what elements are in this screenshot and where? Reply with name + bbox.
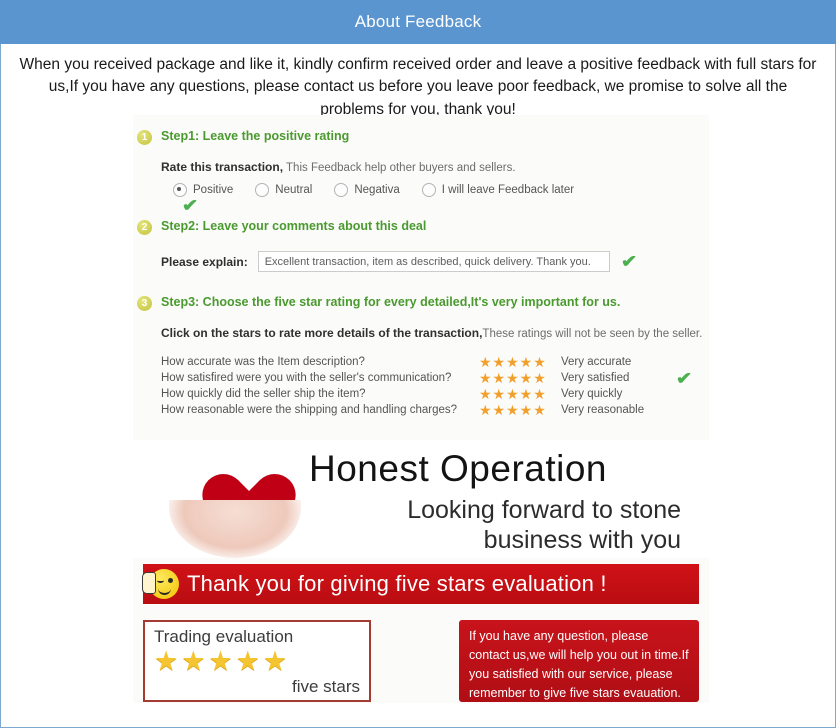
rating-stars[interactable]: ★★★★★ bbox=[479, 355, 561, 369]
step3-header: 3 Step3: Choose the five star rating for… bbox=[137, 289, 709, 311]
honest-subtitle-line1: Looking forward to stone bbox=[309, 496, 681, 526]
rating-stars[interactable]: ★★★★★ bbox=[479, 371, 561, 385]
page-title: About Feedback bbox=[355, 12, 482, 32]
step1-badge: 1 bbox=[137, 130, 152, 145]
radio-option-later[interactable]: I will leave Feedback later bbox=[422, 183, 574, 197]
rating-stars[interactable]: ★★★★★ bbox=[479, 403, 561, 417]
rating-answer: Very quickly bbox=[561, 388, 622, 400]
radio-neutral-label: Neutral bbox=[275, 184, 312, 196]
radio-option-negative[interactable]: Negativa bbox=[334, 183, 399, 197]
radio-negative-icon[interactable] bbox=[334, 183, 348, 197]
winking-smiley-thumbs-up-icon bbox=[149, 569, 179, 599]
trading-evaluation-subtitle: five stars bbox=[292, 677, 360, 697]
step3-badge: 3 bbox=[137, 296, 152, 311]
feedback-page: About Feedback When you received package… bbox=[0, 0, 836, 728]
step2-badge: 2 bbox=[137, 220, 152, 235]
explain-row: Please explain: ✔ bbox=[161, 251, 709, 272]
rating-radio-group: Positive Neutral Negativa I will le bbox=[161, 183, 709, 197]
step3-body: Click on the stars to rate more details … bbox=[133, 326, 709, 418]
rate-transaction-line: Rate this transaction, This Feedback hel… bbox=[161, 160, 709, 174]
rate-transaction-hint: This Feedback help other buyers and sell… bbox=[286, 162, 515, 174]
bottom-boxes-row: Trading evaluation ★★★★★ five stars If y… bbox=[143, 620, 699, 702]
smiley-wink-eye bbox=[157, 578, 164, 583]
radio-negative-label: Negativa bbox=[354, 184, 399, 196]
click-stars-label: Click on the stars to rate more details … bbox=[161, 326, 482, 340]
rating-question: How accurate was the Item description? bbox=[161, 356, 479, 368]
honest-operation-banner: Honest Operation Looking forward to ston… bbox=[133, 440, 709, 558]
thanks-banner-text: Thank you for giving five stars evaluati… bbox=[187, 571, 607, 597]
step1-body: Rate this transaction, This Feedback hel… bbox=[133, 160, 709, 197]
step2-body: Please explain: ✔ bbox=[133, 251, 709, 272]
contact-notice-box: If you have any question, please contact… bbox=[459, 620, 699, 702]
honest-subtitle-line2: business with you bbox=[309, 526, 681, 556]
smiley-mouth bbox=[158, 586, 171, 595]
rating-stars[interactable]: ★★★★★ bbox=[479, 387, 561, 401]
content-frame: When you received package and like it, k… bbox=[0, 44, 836, 728]
radio-later-icon[interactable] bbox=[422, 183, 436, 197]
radio-later-label: I will leave Feedback later bbox=[442, 184, 574, 196]
check-icon-comment: ✔ bbox=[621, 253, 637, 270]
trading-evaluation-box: Trading evaluation ★★★★★ five stars bbox=[143, 620, 371, 702]
comment-input[interactable] bbox=[258, 251, 610, 272]
radio-option-neutral[interactable]: Neutral bbox=[255, 183, 312, 197]
steps-panel: 1 Step1: Leave the positive rating Rate … bbox=[133, 115, 709, 703]
step3-title: Step3: Choose the five star rating for e… bbox=[161, 295, 620, 309]
click-stars-line: Click on the stars to rate more details … bbox=[161, 326, 709, 340]
rating-row: How reasonable were the shipping and han… bbox=[161, 402, 709, 418]
radio-neutral-icon[interactable] bbox=[255, 183, 269, 197]
radio-option-positive[interactable]: Positive bbox=[173, 183, 233, 197]
title-bar: About Feedback bbox=[0, 0, 836, 44]
check-icon-ratings: ✔ bbox=[676, 370, 692, 387]
rating-answer: Very reasonable bbox=[561, 404, 644, 416]
rating-question: How satisfired were you with the seller'… bbox=[161, 372, 479, 384]
check-icon-positive: ✔ bbox=[182, 197, 198, 214]
step1-header: 1 Step1: Leave the positive rating bbox=[137, 123, 709, 145]
step2-header: 2 Step2: Leave your comments about this … bbox=[137, 213, 709, 235]
steps-list: 1 Step1: Leave the positive rating Rate … bbox=[133, 115, 709, 702]
radio-positive-label: Positive bbox=[193, 184, 233, 196]
hand-icon bbox=[169, 500, 301, 558]
rating-question: How quickly did the seller ship the item… bbox=[161, 388, 479, 400]
rating-question: How reasonable were the shipping and han… bbox=[161, 404, 479, 416]
thanks-banner: Thank you for giving five stars evaluati… bbox=[143, 564, 699, 604]
detailed-ratings: How accurate was the Item description? ★… bbox=[161, 354, 709, 418]
step2-title: Step2: Leave your comments about this de… bbox=[161, 219, 426, 233]
trading-evaluation-title: Trading evaluation bbox=[154, 627, 360, 647]
step1-title: Step1: Leave the positive rating bbox=[161, 129, 349, 143]
rating-row: How accurate was the Item description? ★… bbox=[161, 354, 709, 370]
radio-positive-icon[interactable] bbox=[173, 183, 187, 197]
rating-row: How satisfired were you with the seller'… bbox=[161, 370, 709, 386]
trading-evaluation-stars: ★★★★★ bbox=[154, 648, 360, 675]
hand-holding-heart-icon bbox=[161, 442, 311, 558]
honest-title: Honest Operation bbox=[309, 448, 607, 490]
rating-row: How quickly did the seller ship the item… bbox=[161, 386, 709, 402]
click-stars-hint: These ratings will not be seen by the se… bbox=[482, 328, 702, 340]
smiley-eye bbox=[168, 578, 173, 583]
thumbs-up-icon bbox=[142, 572, 156, 594]
honest-subtitle: Looking forward to stone business with y… bbox=[309, 496, 681, 555]
explain-label: Please explain: bbox=[161, 255, 248, 269]
rating-answer: Very satisfied bbox=[561, 372, 629, 384]
intro-paragraph: When you received package and like it, k… bbox=[1, 44, 835, 123]
rate-transaction-label: Rate this transaction, bbox=[161, 160, 283, 174]
rating-answer: Very accurate bbox=[561, 356, 631, 368]
